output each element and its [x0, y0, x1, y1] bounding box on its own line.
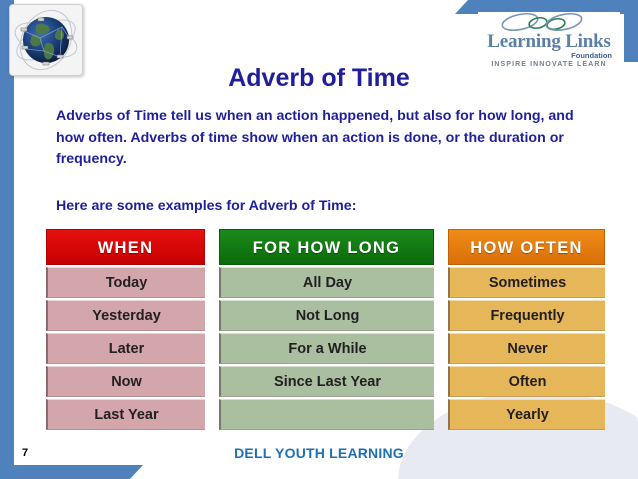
cell-when: Last Year — [46, 399, 205, 430]
footer-label: DELL YOUTH LEARNING — [0, 445, 638, 461]
column-gap — [434, 399, 448, 430]
column-gap — [434, 333, 448, 364]
column-header-for-how-long: FOR HOW LONG — [219, 229, 434, 265]
cell-when: Now — [46, 366, 205, 397]
body-paragraph: Adverbs of Time tell us when an action h… — [56, 106, 596, 171]
cell-for-how-long: Since Last Year — [219, 366, 434, 397]
brand-subtitle: Foundation — [478, 51, 620, 60]
cell-how-often: Sometimes — [448, 267, 605, 298]
column-gap — [205, 229, 219, 265]
column-header-when: WHEN — [46, 229, 205, 265]
slide: Learning Links Foundation INSPIRE INNOVA… — [0, 0, 638, 479]
table-header-row: WHEN FOR HOW LONG HOW OFTEN — [46, 229, 605, 265]
table-row: Now Since Last Year Often — [46, 366, 605, 397]
cell-for-how-long: For a While — [219, 333, 434, 364]
column-gap — [205, 399, 219, 430]
column-gap — [434, 229, 448, 265]
cell-how-often: Often — [448, 366, 605, 397]
table-row: Last Year Yearly — [46, 399, 605, 430]
learning-links-logo: Learning Links Foundation INSPIRE INNOVA… — [478, 12, 620, 68]
column-header-how-often: HOW OFTEN — [448, 229, 605, 265]
column-gap — [205, 333, 219, 364]
cell-how-often: Never — [448, 333, 605, 364]
bottom-accent-bar — [0, 465, 130, 479]
interlocking-rings-icon — [478, 12, 620, 32]
cell-how-often: Frequently — [448, 300, 605, 331]
table-row: Later For a While Never — [46, 333, 605, 364]
column-gap — [434, 267, 448, 298]
cell-when: Later — [46, 333, 205, 364]
page-title: Adverb of Time — [0, 64, 638, 93]
cell-when: Today — [46, 267, 205, 298]
cell-for-how-long: Not Long — [219, 300, 434, 331]
table-body: Today All Day Sometimes Yesterday Not Lo… — [46, 267, 605, 430]
cell-for-how-long — [219, 399, 434, 430]
cell-how-often: Yearly — [448, 399, 605, 430]
column-gap — [205, 300, 219, 331]
cell-when: Yesterday — [46, 300, 205, 331]
cell-for-how-long: All Day — [219, 267, 434, 298]
adverb-of-time-table: WHEN FOR HOW LONG HOW OFTEN Today All Da… — [46, 229, 605, 430]
table-row: Today All Day Sometimes — [46, 267, 605, 298]
column-gap — [434, 366, 448, 397]
column-gap — [434, 300, 448, 331]
examples-intro: Here are some examples for Adverb of Tim… — [56, 198, 596, 214]
column-gap — [205, 267, 219, 298]
table-row: Yesterday Not Long Frequently — [46, 300, 605, 331]
column-gap — [205, 366, 219, 397]
brand-name: Learning Links — [478, 32, 620, 51]
top-right-side-bar — [624, 0, 638, 62]
